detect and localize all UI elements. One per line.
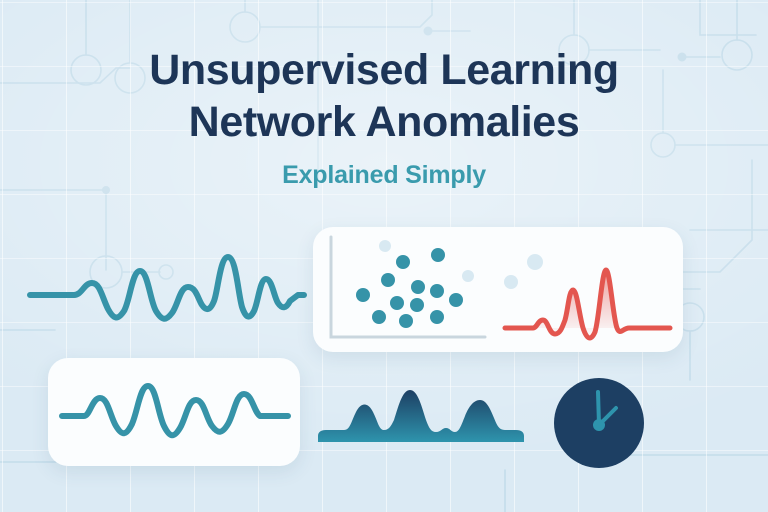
infographic-canvas: Unsupervised Learning Network Anomalies … [0,0,768,512]
signal-waveform-top-chart [30,243,304,348]
anomaly-spike-chart [505,248,670,348]
clock-gauge [554,378,644,468]
page-title-line-2: Network Anomalies [0,96,768,148]
page-subtitle: Explained Simply [0,160,768,190]
area-fill [318,390,524,442]
smooth-waveform-chart [62,372,288,452]
header-block: Unsupervised Learning Network Anomalies … [0,44,768,190]
scatter-normal-points [356,248,463,328]
spike-line [505,270,670,338]
page-title-line-1: Unsupervised Learning [0,44,768,96]
traffic-volume-area-chart [318,382,524,462]
cluster-scatter-chart [325,233,515,348]
gauge-hub [593,419,605,431]
spike-outlier-dots [504,254,543,289]
